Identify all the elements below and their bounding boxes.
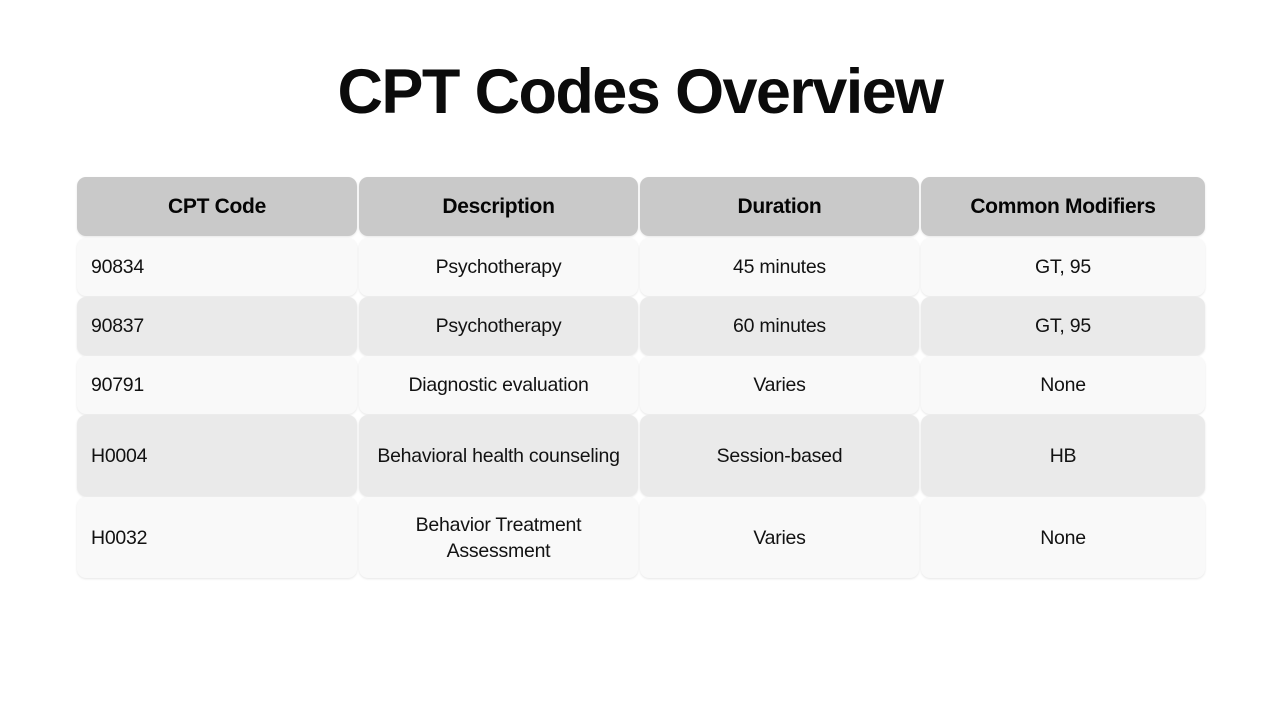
cell-description: Psychotherapy: [359, 238, 638, 296]
cell-value: GT, 95: [1035, 254, 1091, 280]
cell-value: None: [1040, 525, 1086, 551]
column-header-label: Duration: [738, 194, 822, 220]
cell-duration: Varies: [640, 356, 919, 414]
cell-value: Varies: [753, 372, 805, 398]
cell-value: 60 minutes: [733, 313, 826, 339]
column-header-common-modifiers[interactable]: Common Modifiers: [921, 177, 1205, 236]
cell-description: Diagnostic evaluation: [359, 356, 638, 414]
cell-value: HB: [1050, 443, 1077, 469]
cell-value: Behavioral health counseling: [377, 443, 619, 469]
cell-modifiers: HB: [921, 415, 1205, 496]
cell-cpt-code: H0004: [77, 415, 357, 496]
cell-cpt-code: 90837: [77, 297, 357, 355]
cell-modifiers: None: [921, 497, 1205, 578]
cell-value: None: [1040, 372, 1086, 398]
page-title: CPT Codes Overview: [0, 52, 1280, 132]
column-header-label: Common Modifiers: [970, 194, 1155, 220]
table-row[interactable]: H0004 Behavioral health counseling Sessi…: [77, 415, 1205, 496]
cell-value: H0032: [91, 525, 147, 551]
table-row[interactable]: H0032 Behavior Treatment Assessment Vari…: [77, 497, 1205, 578]
table-row[interactable]: 90791 Diagnostic evaluation Varies None: [77, 356, 1205, 414]
cell-cpt-code: H0032: [77, 497, 357, 578]
cell-value: GT, 95: [1035, 313, 1091, 339]
cell-value: Psychotherapy: [436, 313, 562, 339]
cell-modifiers: GT, 95: [921, 238, 1205, 296]
slide-canvas: CPT Codes Overview CPT Code Description …: [0, 0, 1280, 720]
cell-value: Session-based: [717, 443, 843, 469]
cell-cpt-code: 90791: [77, 356, 357, 414]
cell-duration: Varies: [640, 497, 919, 578]
column-header-description[interactable]: Description: [359, 177, 638, 236]
cell-value: H0004: [91, 443, 147, 469]
cell-description: Behavioral health counseling: [359, 415, 638, 496]
table-header-row: CPT Code Description Duration Common Mod…: [77, 177, 1205, 237]
cell-value: Diagnostic evaluation: [408, 372, 588, 398]
cpt-codes-table: CPT Code Description Duration Common Mod…: [77, 177, 1205, 579]
column-header-label: CPT Code: [168, 194, 266, 220]
cell-value: Varies: [753, 525, 805, 551]
cell-modifiers: GT, 95: [921, 297, 1205, 355]
cell-cpt-code: 90834: [77, 238, 357, 296]
table-row[interactable]: 90837 Psychotherapy 60 minutes GT, 95: [77, 297, 1205, 355]
cell-value: 90834: [91, 254, 144, 280]
cell-duration: Session-based: [640, 415, 919, 496]
cell-duration: 45 minutes: [640, 238, 919, 296]
cell-value: Behavior Treatment Assessment: [369, 512, 628, 564]
column-header-cpt-code[interactable]: CPT Code: [77, 177, 357, 236]
cell-value: 90837: [91, 313, 144, 339]
table-row[interactable]: 90834 Psychotherapy 45 minutes GT, 95: [77, 238, 1205, 296]
cell-description: Psychotherapy: [359, 297, 638, 355]
column-header-label: Description: [442, 194, 554, 220]
cell-value: Psychotherapy: [436, 254, 562, 280]
cell-description: Behavior Treatment Assessment: [359, 497, 638, 578]
cell-value: 90791: [91, 372, 144, 398]
column-header-duration[interactable]: Duration: [640, 177, 919, 236]
cell-modifiers: None: [921, 356, 1205, 414]
cell-value: 45 minutes: [733, 254, 826, 280]
cell-duration: 60 minutes: [640, 297, 919, 355]
